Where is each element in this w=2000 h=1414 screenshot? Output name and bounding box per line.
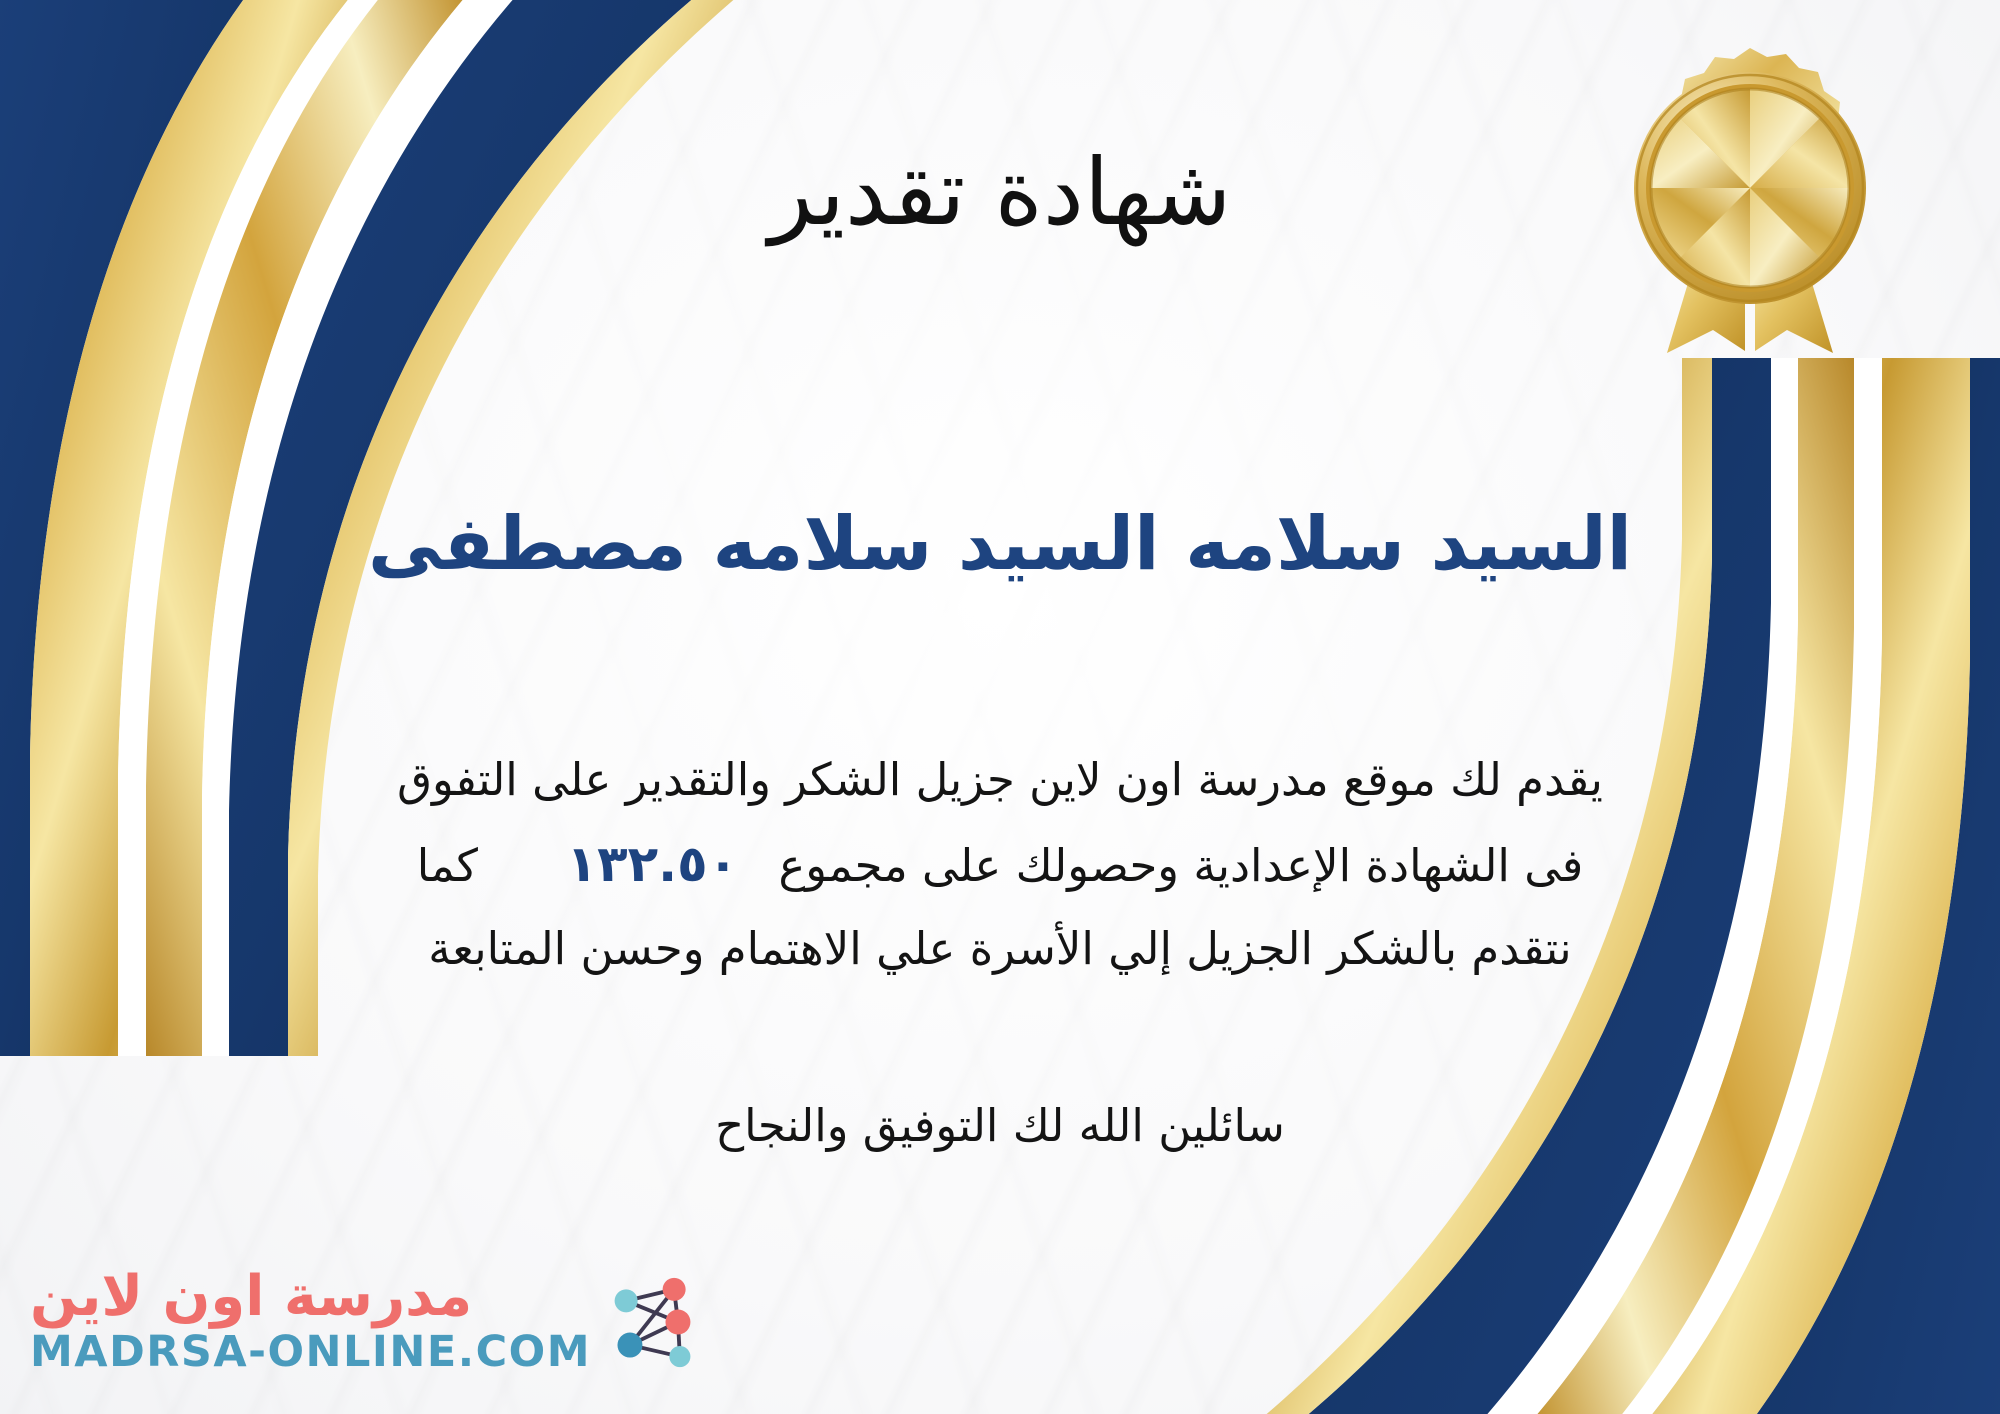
recipient-name: السيد سلامه السيد سلامه مصطفى [120,500,1880,589]
node-coral-middle [665,1309,690,1334]
node-coral-top-right [663,1278,686,1301]
brand-website: MADRSA-ONLINE.COM [30,1328,591,1376]
grade-value: ١٣٢.٥٠ [541,835,765,893]
node-teal-top-left [615,1289,638,1312]
certificate-body: يقدم لك موقع مدرسة اون لاين جزيل الشكر و… [160,740,1840,989]
brand-text-group: مدرسة اون لاين MADRSA-ONLINE.COM [30,1267,591,1376]
body-line-2-after: كما [417,839,478,892]
certificate-content: شهادة تقدير السيد سلامه السيد سلامه مصطف… [180,0,1820,1414]
node-teal-bottom-right [669,1346,690,1367]
network-nodes-icon [605,1272,701,1372]
body-line-2: فى الشهادة الإعدادية وحصولك على مجموع ١٣… [160,820,1840,909]
closing-line: سائلين الله لك التوفيق والنجاح [180,1090,1820,1162]
certificate-page: شهادة تقدير السيد سلامه السيد سلامه مصطف… [0,0,2000,1414]
body-line-2-before: فى الشهادة الإعدادية وحصولك على مجموع [778,839,1583,892]
brand-logo[interactable]: مدرسة اون لاين MADRSA-ONLINE.COM [30,1267,701,1376]
node-blue-bottom-left [617,1332,642,1357]
body-line-1: يقدم لك موقع مدرسة اون لاين جزيل الشكر و… [160,740,1840,820]
certificate-title: شهادة تقدير [180,140,1820,246]
brand-name-arabic: مدرسة اون لاين [30,1267,591,1327]
body-line-3: نتقدم بالشكر الجزيل إلي الأسرة علي الاهت… [160,909,1840,989]
